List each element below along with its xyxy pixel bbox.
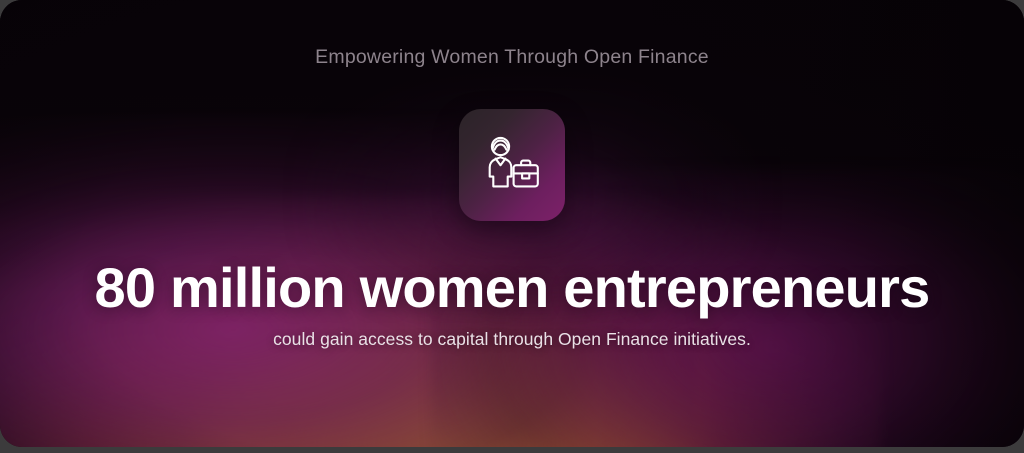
businesswoman-briefcase-icon <box>482 136 542 194</box>
card-content: Empowering Women Through Open Finance <box>0 0 1024 447</box>
screenshot-stage: Empowering Women Through Open Finance <box>0 0 1024 453</box>
eyebrow-title: Empowering Women Through Open Finance <box>315 46 709 69</box>
subline-description: could gain access to capital through Ope… <box>273 329 751 350</box>
hero-card: Empowering Women Through Open Finance <box>0 0 1024 447</box>
headline-statistic: 80 million women entrepreneurs <box>95 255 930 320</box>
icon-tile <box>459 109 565 221</box>
